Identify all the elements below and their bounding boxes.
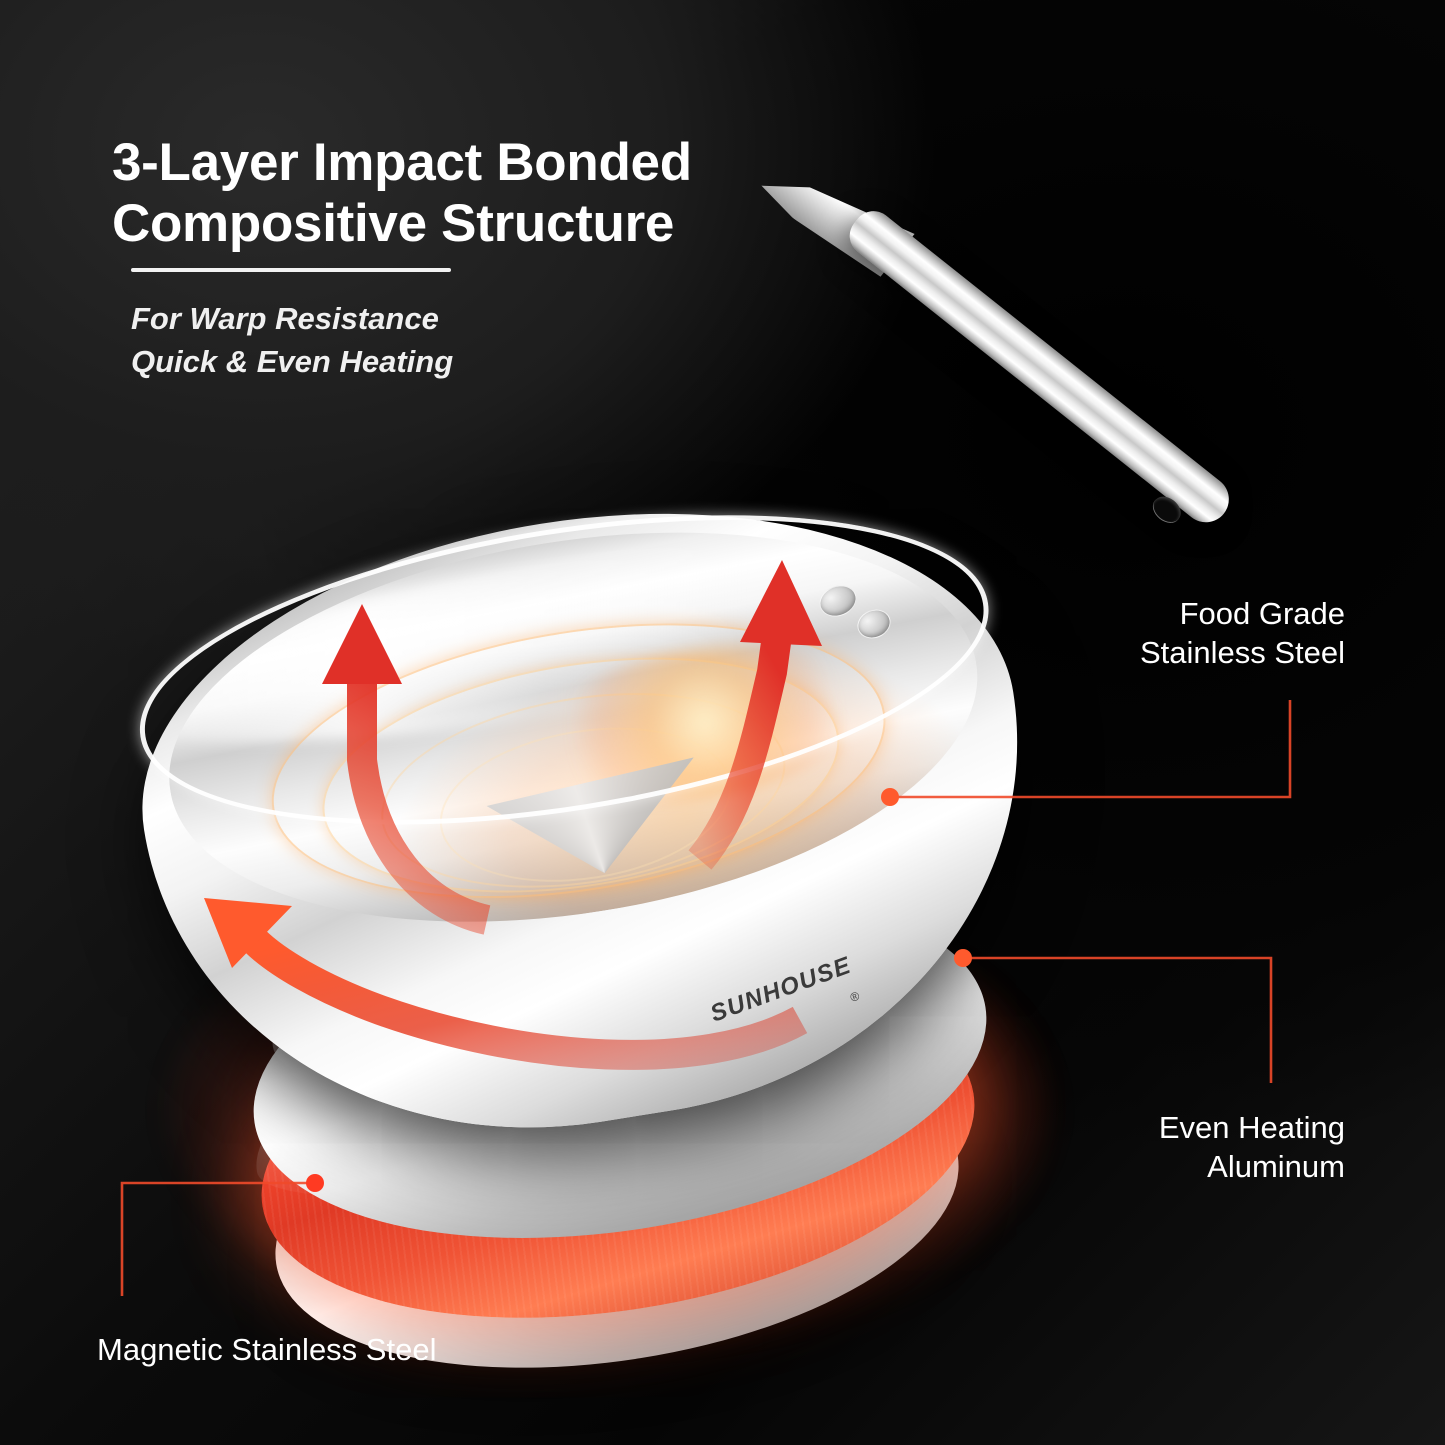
callout-line2: Aluminum	[1159, 1147, 1345, 1186]
callout-even-heating-aluminum: Even Heating Aluminum	[1159, 1108, 1345, 1186]
callout-line1: Food Grade	[1140, 594, 1345, 633]
heat-arrow-center	[700, 560, 822, 860]
heat-arrow-lower-left	[204, 898, 800, 1055]
page-title-line1: 3-Layer Impact Bonded	[112, 133, 692, 192]
infographic-canvas: SUNHOUSE ®	[0, 0, 1445, 1445]
callout-food-grade-stainless-steel: Food Grade Stainless Steel	[1140, 594, 1345, 672]
heat-arrow-left	[322, 604, 487, 920]
page-subtitle: For Warp Resistance Quick & Even Heating	[131, 298, 771, 384]
page-title: 3-Layer Impact Bonded Compositive Struct…	[112, 132, 932, 255]
callout-line2: Stainless Steel	[1140, 633, 1345, 672]
page-subtitle-line2: Quick & Even Heating	[131, 341, 771, 384]
page-subtitle-line1: For Warp Resistance	[131, 298, 771, 341]
callout-line1: Even Heating	[1159, 1108, 1345, 1147]
title-divider	[131, 268, 451, 272]
page-title-line2: Compositive Structure	[112, 193, 932, 254]
callout-line1: Magnetic Stainless Steel	[97, 1330, 436, 1369]
callout-magnetic-stainless-steel: Magnetic Stainless Steel	[97, 1330, 436, 1369]
